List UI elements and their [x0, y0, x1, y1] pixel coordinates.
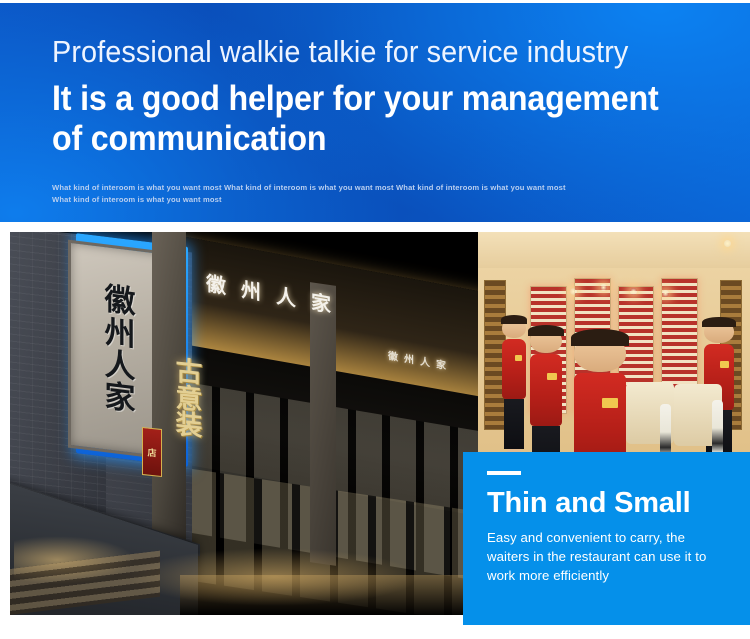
waitress-head: [502, 318, 526, 338]
ceiling-spotlight-1: [570, 288, 577, 295]
name-badge: [547, 373, 557, 380]
hero-banner: Professional walkie talkie for service i…: [0, 3, 750, 222]
feature-title: Thin and Small: [487, 488, 726, 519]
hero-body-line-1: What kind of interoom is what you want m…: [52, 182, 612, 194]
waitress-head: [704, 320, 734, 343]
roof-sign-char-1: 徽: [206, 267, 226, 300]
roof-sign-far-char-3: 人: [420, 353, 430, 370]
roof-sign-far-char-1: 徽: [388, 347, 398, 364]
red-plaque-text: 店: [147, 445, 156, 459]
hero-content: Professional walkie talkie for service i…: [52, 3, 736, 207]
ceiling-spotlight-2: [600, 284, 607, 291]
hero-body-line-2: What kind of interoom is what you want m…: [52, 194, 612, 206]
feature-description: Easy and convenient to carry, the waiter…: [487, 528, 726, 585]
page-root: Professional walkie talkie for service i…: [0, 0, 750, 639]
roof-sign-char-3: 人: [276, 279, 296, 312]
sign-char-4: 家: [105, 381, 136, 415]
ceiling-spotlight-3: [630, 288, 637, 295]
roof-sign-char-4: 家: [311, 285, 331, 318]
roof-sign-char-2: 州: [241, 273, 261, 306]
roof-sign-far-char-2: 州: [404, 350, 414, 367]
red-plaque: 店: [142, 427, 162, 477]
hero-headline: It is a good helper for your management …: [52, 79, 681, 160]
ceiling-spotlight-5: [724, 240, 731, 247]
gold-calligraphy-sign: 古 意 装: [160, 357, 218, 495]
waitress-uniform: [502, 339, 526, 399]
ceiling-spotlight-4: [662, 290, 669, 297]
feature-callout: Thin and Small Easy and convenient to ca…: [463, 452, 750, 625]
name-badge: [720, 361, 729, 368]
hero-body-text: What kind of interoom is what you want m…: [52, 182, 612, 207]
waitress-skirt: [504, 399, 525, 449]
hero-kicker: Professional walkie talkie for service i…: [52, 35, 688, 70]
roof-sign-far-char-4: 家: [436, 355, 446, 372]
gold-sign-char-3: 装: [176, 412, 203, 440]
waitress-head: [530, 328, 562, 353]
facade-pillar-right: [310, 282, 336, 566]
waitress-head: [574, 334, 626, 372]
name-badge: [515, 355, 522, 361]
sign-char-1: 徽: [105, 284, 136, 318]
name-badge: [602, 398, 618, 408]
photo-restaurant-exterior: 徽 州 人 家 徽 州 人 家 徽 州 人 家 古: [10, 232, 478, 615]
feature-divider-rule: [487, 471, 521, 475]
ground-light-pool: [130, 545, 478, 615]
waitress-uniform: [530, 354, 562, 426]
